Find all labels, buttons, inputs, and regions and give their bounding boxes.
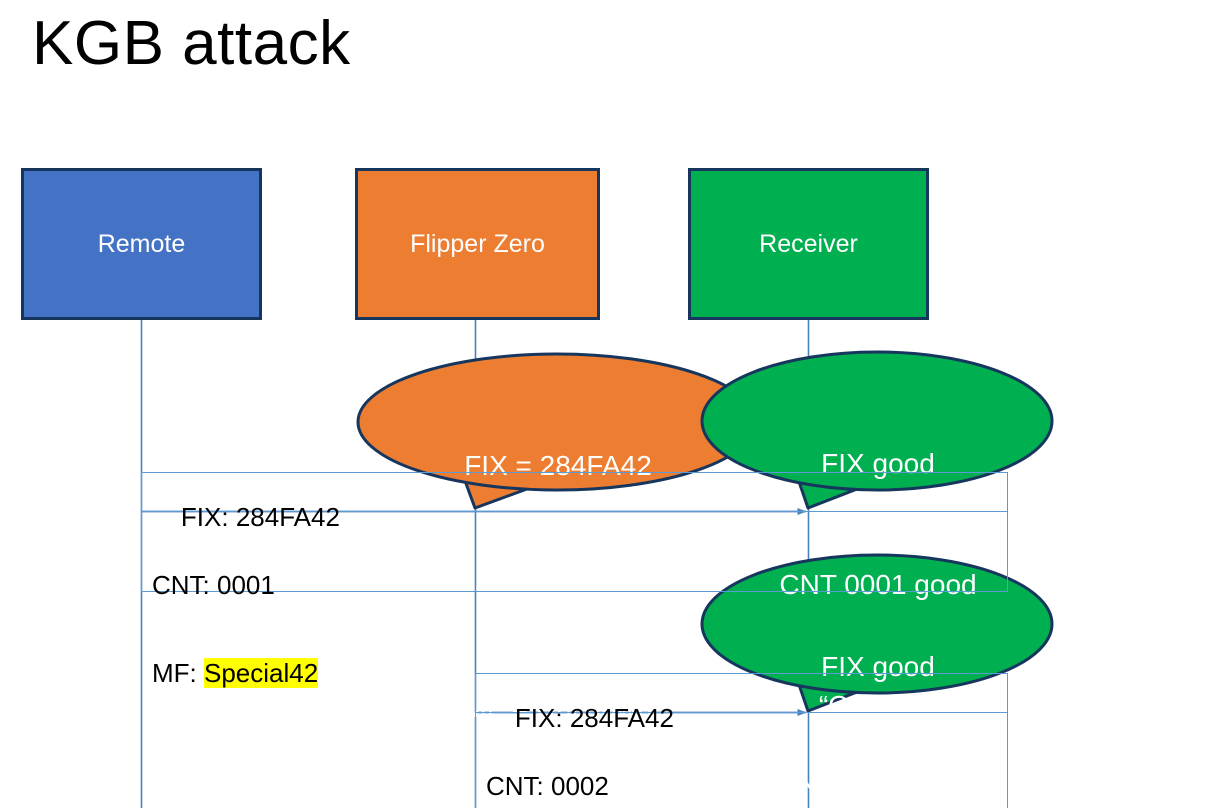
actor-label-receiver: Receiver — [759, 229, 858, 259]
actor-box-remote[interactable]: Remote — [21, 168, 262, 320]
message-2-line-1-box[interactable]: FIX: 284FA42 — [475, 673, 1008, 713]
message-2-body-box[interactable]: CNT: 0002 MF: KGB — [475, 713, 1008, 808]
message-1-cnt-line: CNT: 0001 — [152, 571, 1007, 600]
message-1-body-box[interactable]: CNT: 0001 MF: Special42 — [141, 512, 1008, 592]
actor-box-receiver[interactable]: Receiver — [688, 168, 929, 320]
message-1-cnt-value: 0001 — [217, 570, 275, 600]
message-1-mf-value: Special42 — [204, 658, 318, 688]
message-2-cnt-value: 0002 — [551, 771, 609, 801]
message-2-cnt-prefix: CNT: — [486, 771, 551, 801]
message-1-mf-prefix: MF: — [152, 658, 204, 688]
message-1-cnt-prefix: CNT: — [152, 570, 217, 600]
actor-box-flipper[interactable]: Flipper Zero — [355, 168, 600, 320]
message-2-cnt-line: CNT: 0002 — [486, 772, 1007, 801]
actor-label-remote: Remote — [98, 229, 186, 259]
message-1-line-1-box[interactable]: FIX: 284FA42 — [141, 472, 1008, 512]
slide-canvas: KGB attack R — [0, 0, 1218, 808]
actor-label-flipper: Flipper Zero — [410, 229, 545, 259]
